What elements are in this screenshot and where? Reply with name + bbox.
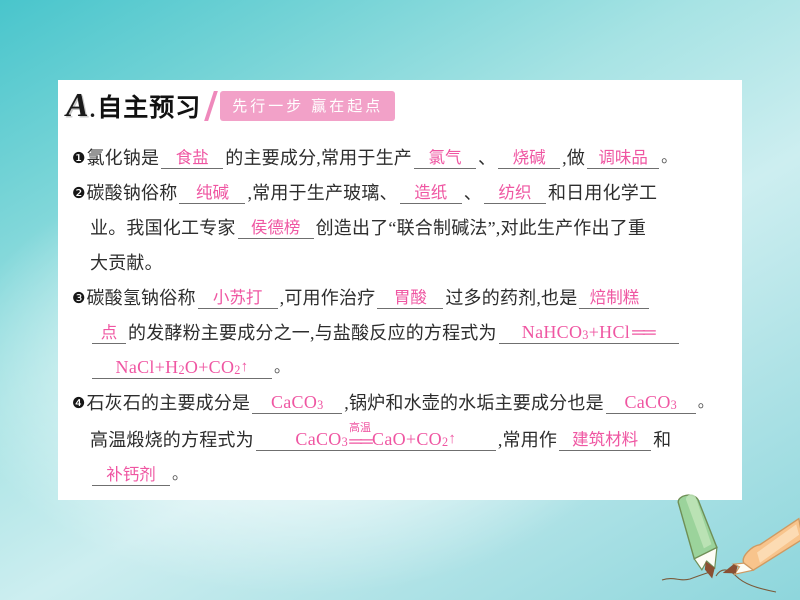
sentence-period: 。 [698, 388, 714, 414]
sentence-period: 。 [172, 460, 188, 486]
answer-blank[interactable]: 烧碱 [498, 150, 560, 170]
reaction-arrow: 高温 ══ [349, 422, 371, 450]
section-badge: 先行一步 赢在起点 [220, 91, 395, 121]
question-text: 、 [478, 149, 496, 169]
equation-subscript: 3 [342, 436, 348, 448]
badge-text-first: 先行一步 [232, 95, 304, 116]
question-number: ❶ [72, 151, 85, 169]
question-line: 高温煅烧的方程式为 CaCO3 高温 ══ CaO+CO2↑ ,常用作 建筑材料… [72, 414, 732, 451]
formula-subscript: 3 [317, 399, 323, 411]
question-text: 碳酸钠俗称 [86, 184, 177, 204]
section-header: A . 自主预习 先行一步 赢在起点 [66, 86, 395, 126]
question-text: 石灰石的主要成分是 [86, 394, 250, 414]
section-title: 自主预习 [97, 88, 201, 124]
question-text: 高温煅烧的方程式为 [90, 431, 254, 451]
question-number: ❸ [72, 291, 85, 309]
answer-blank[interactable]: 食盐 [161, 150, 223, 170]
answer-blank[interactable]: 焙制糕 [579, 290, 649, 310]
gas-arrow-icon: ↑ [241, 360, 249, 375]
question-text: 大贡献。 [90, 254, 163, 274]
squiggle-line-left [662, 572, 710, 580]
answer-blank[interactable]: 氯气 [414, 150, 476, 170]
question-line: ❸ 碳酸氢钠俗称 小苏打 ,可用作治疗 胃酸 过多的药剂,也是 焙制糕 [72, 274, 732, 309]
pencils-decoration [660, 488, 800, 600]
equation-operator: +HCl [589, 323, 630, 341]
equation-reactant: NaHCO [522, 323, 583, 341]
question-line: ❹ 石灰石的主要成分是 CaCO3 ,锅炉和水壶的水垢主要成分也是 CaCO3 … [72, 379, 732, 414]
equation-equals: ══ [632, 323, 654, 341]
question-text: 碳酸氢钠俗称 [86, 289, 195, 309]
answer-blank-equation[interactable]: NaHCO3+HCl══ [499, 323, 679, 344]
question-text: 过多的药剂,也是 [445, 289, 577, 309]
question-text: 和 [653, 431, 671, 451]
reaction-bar: ══ [349, 432, 371, 450]
answer-blank[interactable]: 胃酸 [377, 290, 443, 310]
question-text: ,常用作 [498, 431, 557, 451]
pencil-orange-icon [723, 513, 800, 576]
question-line: 点 的发酵粉主要成分之一,与盐酸反应的方程式为 NaHCO3+HCl══ [72, 309, 732, 344]
question-text: ,常用于生产玻璃、 [247, 184, 397, 204]
section-letter: A [66, 89, 89, 123]
question-number: ❹ [72, 396, 85, 414]
question-line: 大贡献。 [72, 239, 732, 274]
question-text: ,可用作治疗 [280, 289, 376, 309]
question-text: 氯化钠是 [86, 149, 159, 169]
answer-blank-equation[interactable]: NaCl+H2O+CO2↑ [92, 358, 272, 379]
question-text: 的发酵粉主要成分之一,与盐酸反应的方程式为 [128, 324, 497, 344]
equation-product-mid: O+CO [185, 358, 234, 376]
answer-blank[interactable]: 调味品 [587, 150, 659, 170]
question-number: ❷ [72, 186, 85, 204]
question-text: 的主要成分,常用于生产 [225, 149, 412, 169]
answer-blank[interactable]: CaCO3 [252, 393, 342, 414]
page-background: A . 自主预习 先行一步 赢在起点 ❶ 氯化钠是 食盐 的主要成分,常用于生产… [0, 0, 800, 600]
answer-blank[interactable]: 补钙剂 [92, 467, 170, 487]
question-text: 和日用化学工 [548, 184, 657, 204]
answer-blank[interactable]: 点 [92, 325, 126, 345]
content-card: A . 自主预习 先行一步 赢在起点 ❶ 氯化钠是 食盐 的主要成分,常用于生产… [58, 80, 742, 500]
question-line: NaCl+H2O+CO2↑ 。 [72, 344, 732, 379]
answer-blank[interactable]: 小苏打 [198, 290, 278, 310]
answer-blank[interactable]: CaCO3 [606, 393, 696, 414]
question-line: 业。我国化工专家 侯德榜 创造出了“联合制碱法”,对此生产作出了重 [72, 204, 732, 239]
question-line: 补钙剂 。 [72, 451, 732, 486]
equation-product: CaO+CO [372, 430, 442, 448]
squiggle-line-right [716, 570, 776, 592]
pencil-green-icon [677, 492, 719, 579]
question-text: 、 [464, 184, 482, 204]
answer-blank[interactable]: 纯碱 [179, 185, 245, 205]
question-line: ❶ 氯化钠是 食盐 的主要成分,常用于生产 氯气 、 烧碱 ,做 调味品 。 [72, 134, 732, 169]
equation-product: NaCl+H [116, 358, 179, 376]
question-text: 创造出了“联合制碱法”,对此生产作出了重 [316, 219, 646, 239]
answer-blank[interactable]: 造纸 [400, 185, 462, 205]
formula-subscript: 3 [671, 399, 677, 411]
answer-blank[interactable]: 侯德榜 [238, 220, 314, 240]
badge-text-second: 赢在起点 [311, 95, 383, 116]
question-text: ,做 [562, 149, 585, 169]
equation-reactant: CaCO [295, 430, 341, 448]
question-text: ,锅炉和水壶的水垢主要成分也是 [344, 394, 604, 414]
question-line: ❷ 碳酸钠俗称 纯碱 ,常用于生产玻璃、 造纸 、 纺织 和日用化学工 [72, 169, 732, 204]
section-letter-dot: . [90, 97, 96, 126]
sentence-period: 。 [661, 143, 677, 169]
sentence-period: 。 [274, 353, 290, 379]
answer-blank-equation[interactable]: CaCO3 高温 ══ CaO+CO2↑ [256, 420, 496, 451]
slash-divider-icon [204, 91, 218, 121]
question-text: 业。我国化工专家 [90, 219, 236, 239]
answer-blank[interactable]: 纺织 [484, 185, 546, 205]
answer-blank[interactable]: 建筑材料 [559, 432, 651, 452]
questions-body: ❶ 氯化钠是 食盐 的主要成分,常用于生产 氯气 、 烧碱 ,做 调味品 。 ❷… [72, 134, 732, 486]
gas-arrow-icon: ↑ [448, 432, 456, 447]
